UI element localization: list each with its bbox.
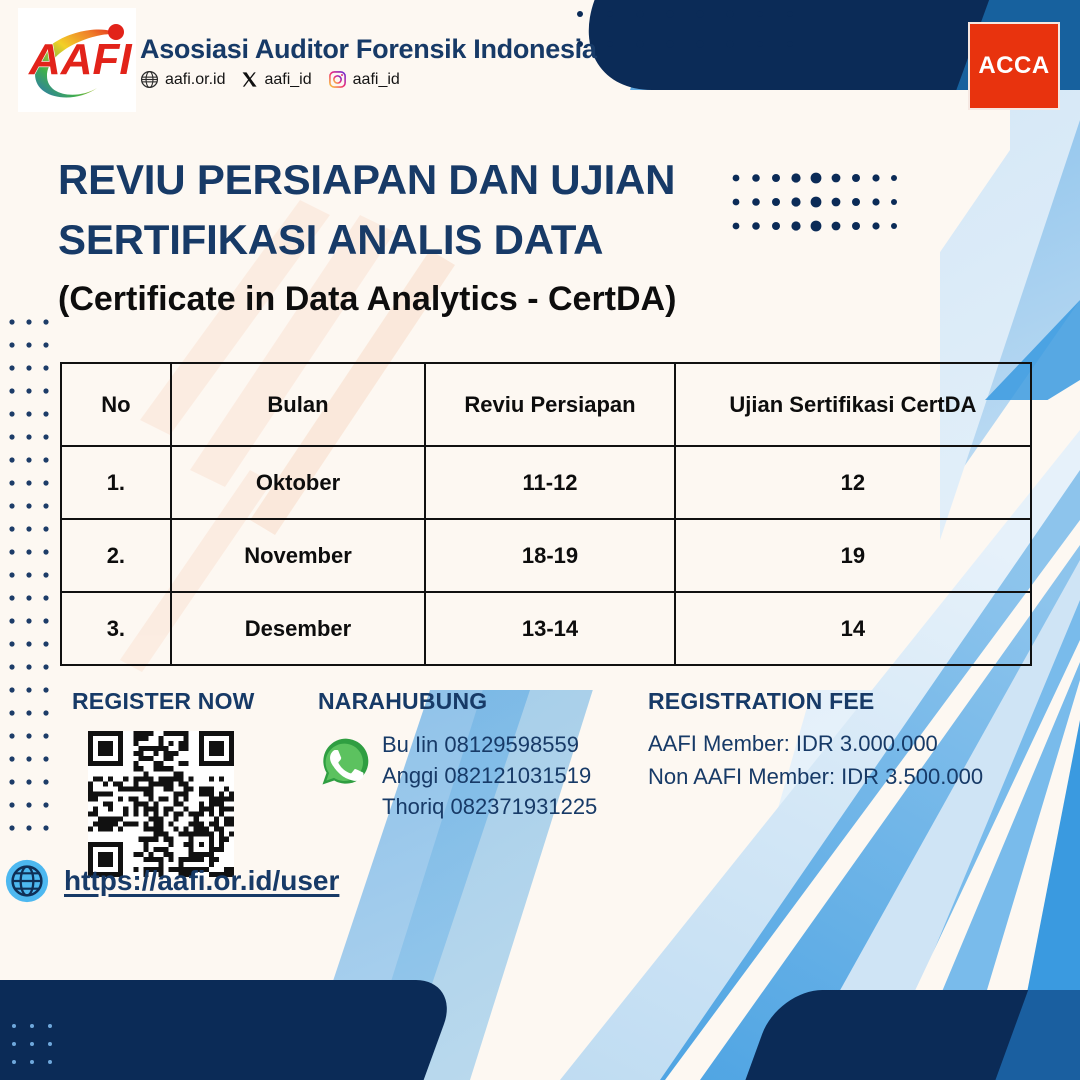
- contact-person: Anggi 082121031519: [382, 760, 597, 791]
- register-block: REGISTER NOW: [72, 688, 255, 877]
- title-subtitle: (Certificate in Data Analytics - CertDA): [58, 277, 676, 321]
- social-instagram-handle: aafi_id: [353, 71, 400, 89]
- qr-code-image: [88, 731, 234, 877]
- globe-icon: [4, 858, 50, 904]
- table-row: 3. Desember 13-14 14: [61, 592, 1031, 665]
- contact-person: Thoriq 082371931225: [382, 791, 597, 822]
- table-header-ujian: Ujian Sertifikasi CertDA: [675, 363, 1031, 446]
- fee-block: REGISTRATION FEE AAFI Member: IDR 3.000.…: [648, 688, 983, 793]
- website-url[interactable]: https://aafi.or.id/user: [64, 865, 339, 897]
- social-x-handle: aafi_id: [264, 71, 311, 89]
- title-line-1: REVIU PERSIAPAN DAN UJIAN: [58, 150, 676, 210]
- table-header-row: No Bulan Reviu Persiapan Ujian Sertifika…: [61, 363, 1031, 446]
- title-line-2: SERTIFIKASI ANALIS DATA: [58, 210, 676, 270]
- cell-reviu: 11-12: [425, 446, 675, 519]
- table-row: 2. November 18-19 19: [61, 519, 1031, 592]
- dot-grid-bottom: [8, 1020, 54, 1068]
- dot-grid-title: [728, 170, 898, 242]
- cell-reviu: 18-19: [425, 519, 675, 592]
- fee-item: AAFI Member: IDR 3.000.000: [648, 727, 983, 760]
- fee-heading: REGISTRATION FEE: [648, 688, 983, 715]
- navy-bottom-left-shape: [0, 980, 460, 1080]
- contact-person: Bu Iin 08129598559: [382, 729, 597, 760]
- social-instagram[interactable]: aafi_id: [328, 70, 400, 89]
- social-handles: aafi.or.id aafi_id: [140, 70, 400, 89]
- x-twitter-icon: [241, 71, 258, 88]
- cell-bulan: Desember: [171, 592, 426, 665]
- table-row: 1. Oktober 11-12 12: [61, 446, 1031, 519]
- cell-no: 1.: [61, 446, 171, 519]
- table-header-reviu: Reviu Persiapan: [425, 363, 675, 446]
- table-header-bulan: Bulan: [171, 363, 426, 446]
- title-block: REVIU PERSIAPAN DAN UJIAN SERTIFIKASI AN…: [58, 150, 676, 321]
- cell-ujian: 12: [675, 446, 1031, 519]
- aafi-logo-mark: AAFI: [21, 12, 133, 108]
- whatsapp-icon: [318, 735, 372, 794]
- poster-canvas: AAFI Asosiasi Auditor Forensik Indonesia…: [0, 0, 1080, 1080]
- fee-list: AAFI Member: IDR 3.000.000 Non AAFI Memb…: [648, 727, 983, 793]
- schedule-table: No Bulan Reviu Persiapan Ujian Sertifika…: [60, 362, 1032, 666]
- dot-grid-left: [6, 316, 52, 846]
- social-x[interactable]: aafi_id: [241, 71, 311, 89]
- contact-names: Bu Iin 08129598559 Anggi 082121031519 Th…: [382, 729, 597, 823]
- cell-reviu: 13-14: [425, 592, 675, 665]
- social-website-handle: aafi.or.id: [165, 71, 225, 89]
- acca-logo: ACCA: [968, 22, 1060, 110]
- table-header-no: No: [61, 363, 171, 446]
- schedule-table-wrapper: No Bulan Reviu Persiapan Ujian Sertifika…: [60, 362, 1032, 666]
- website-row[interactable]: https://aafi.or.id/user: [4, 858, 339, 904]
- qr-code[interactable]: [88, 731, 234, 877]
- contact-heading: NARAHUBUNG: [318, 688, 597, 715]
- cell-bulan: Oktober: [171, 446, 426, 519]
- svg-text:AAFI: AAFI: [28, 35, 132, 84]
- cell-ujian: 19: [675, 519, 1031, 592]
- fee-item: Non AAFI Member: IDR 3.500.000: [648, 760, 983, 793]
- cell-bulan: November: [171, 519, 426, 592]
- acca-logo-text: ACCA: [978, 52, 1049, 80]
- aafi-logo: AAFI: [18, 8, 136, 112]
- globe-icon: [140, 70, 159, 89]
- instagram-icon: [328, 70, 347, 89]
- cell-no: 3.: [61, 592, 171, 665]
- organization-name: Asosiasi Auditor Forensik Indonesia: [140, 34, 597, 65]
- register-heading: REGISTER NOW: [72, 688, 255, 715]
- contact-block: NARAHUBUNG Bu Iin 08129598559 Anggi 0821…: [318, 688, 597, 823]
- cell-no: 2.: [61, 519, 171, 592]
- cell-ujian: 14: [675, 592, 1031, 665]
- dot-grid-header: [570, 4, 820, 56]
- contact-row: Bu Iin 08129598559 Anggi 082121031519 Th…: [318, 729, 597, 823]
- social-website[interactable]: aafi.or.id: [140, 70, 225, 89]
